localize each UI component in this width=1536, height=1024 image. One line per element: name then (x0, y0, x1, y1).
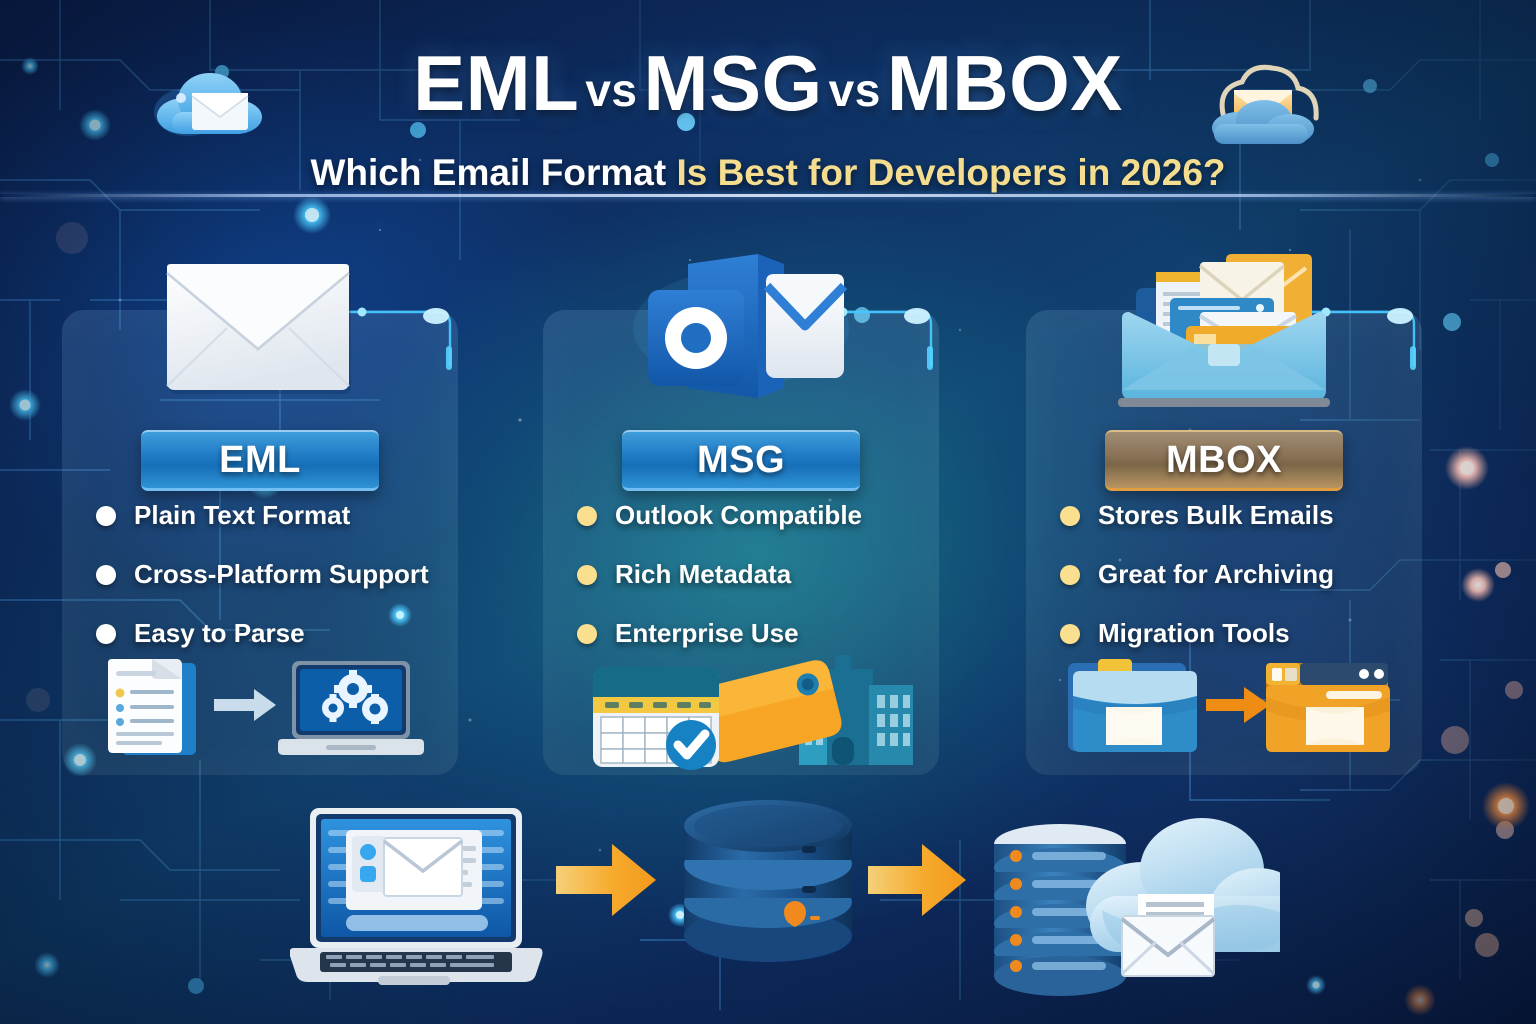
document-icon (108, 659, 196, 755)
bullet-dot-icon (577, 565, 597, 585)
card-mbox-icon-area (1026, 248, 1422, 418)
bullet-dot-icon (577, 624, 597, 644)
badge-msg: MSG (622, 430, 860, 491)
title-eml: EML (413, 39, 579, 127)
card-msg-icon-area (543, 248, 939, 418)
bullet-dot-icon (1060, 565, 1080, 585)
title-msg: MSG (643, 39, 822, 127)
bullet-label: Easy to Parse (134, 618, 305, 649)
card-msg-footer-icons (543, 649, 939, 769)
card-eml-footer-icons (62, 649, 458, 769)
bullet-label: Outlook Compatible (615, 500, 862, 531)
subtitle-plain: Which Email Format (311, 152, 677, 193)
arrow-right-orange-icon (1206, 687, 1270, 723)
list-item: Great for Archiving (1060, 559, 1426, 590)
laptop-gears-icon (278, 661, 424, 755)
list-item: Migration Tools (1060, 618, 1426, 649)
card-eml-icon-area (62, 248, 458, 418)
format-cards: EML Plain Text Format Cross-Platform Sup… (0, 310, 1536, 780)
workflow-diagram (290, 790, 1280, 1000)
bullet-dot-icon (577, 506, 597, 526)
white-envelope-icon (155, 248, 365, 398)
list-item: Stores Bulk Emails (1060, 500, 1426, 531)
bullet-label: Cross-Platform Support (134, 559, 429, 590)
bullet-label: Great for Archiving (1098, 559, 1334, 590)
outlook-logo-icon (626, 248, 856, 408)
subtitle-highlight: Is Best for Developers in 2026? (676, 152, 1225, 193)
list-item: Cross-Platform Support (96, 559, 462, 590)
cloud-orange-envelope-icon (1196, 58, 1324, 154)
arrow-right-light-icon (214, 689, 276, 721)
list-item: Easy to Parse (96, 618, 462, 649)
title-mbox: MBOX (887, 39, 1123, 127)
database-cylinder-icon (684, 800, 852, 962)
bullet-label: Migration Tools (1098, 618, 1290, 649)
badge-eml: EML (141, 430, 379, 491)
card-eml[interactable]: EML Plain Text Format Cross-Platform Sup… (62, 310, 458, 775)
arrow-right-orange-icon (868, 844, 966, 916)
list-item: Enterprise Use (577, 618, 943, 649)
bullet-dot-icon (1060, 624, 1080, 644)
mailbox-stack-icon (1104, 248, 1344, 413)
card-mbox[interactable]: MBOX Stores Bulk Emails Great for Archiv… (1026, 310, 1422, 775)
blue-mail-folder-icon (1068, 659, 1197, 752)
bullet-label: Enterprise Use (615, 618, 799, 649)
bullet-label: Plain Text Format (134, 500, 350, 531)
bullet-label: Rich Metadata (615, 559, 791, 590)
laptop-email-icon (290, 808, 543, 985)
list-item: Outlook Compatible (577, 500, 943, 531)
title-divider (0, 194, 1536, 197)
title-vs-2: vs (823, 64, 887, 116)
bullet-label: Stores Bulk Emails (1098, 500, 1334, 531)
arrow-right-orange-icon (556, 844, 656, 916)
badge-mbox: MBOX (1105, 430, 1343, 491)
cloud-envelope-icon (148, 60, 270, 152)
calendar-check-icon (593, 667, 719, 770)
bullet-dot-icon (96, 565, 116, 585)
page-subtitle: Which Email Format Is Best for Developer… (0, 152, 1536, 194)
card-msg[interactable]: MSG Outlook Compatible Rich Metadata Ent… (543, 310, 939, 775)
bullet-dot-icon (96, 506, 116, 526)
card-mbox-footer-icons (1026, 649, 1422, 769)
list-item: Rich Metadata (577, 559, 943, 590)
infographic-canvas: EMLvsMSGvsMBOX Which Email Format Is Bes… (0, 0, 1536, 1024)
bullet-dot-icon (1060, 506, 1080, 526)
list-item: Plain Text Format (96, 500, 462, 531)
orange-mail-folder-icon (1266, 663, 1390, 752)
title-vs-1: vs (579, 64, 643, 116)
bullet-dot-icon (96, 624, 116, 644)
